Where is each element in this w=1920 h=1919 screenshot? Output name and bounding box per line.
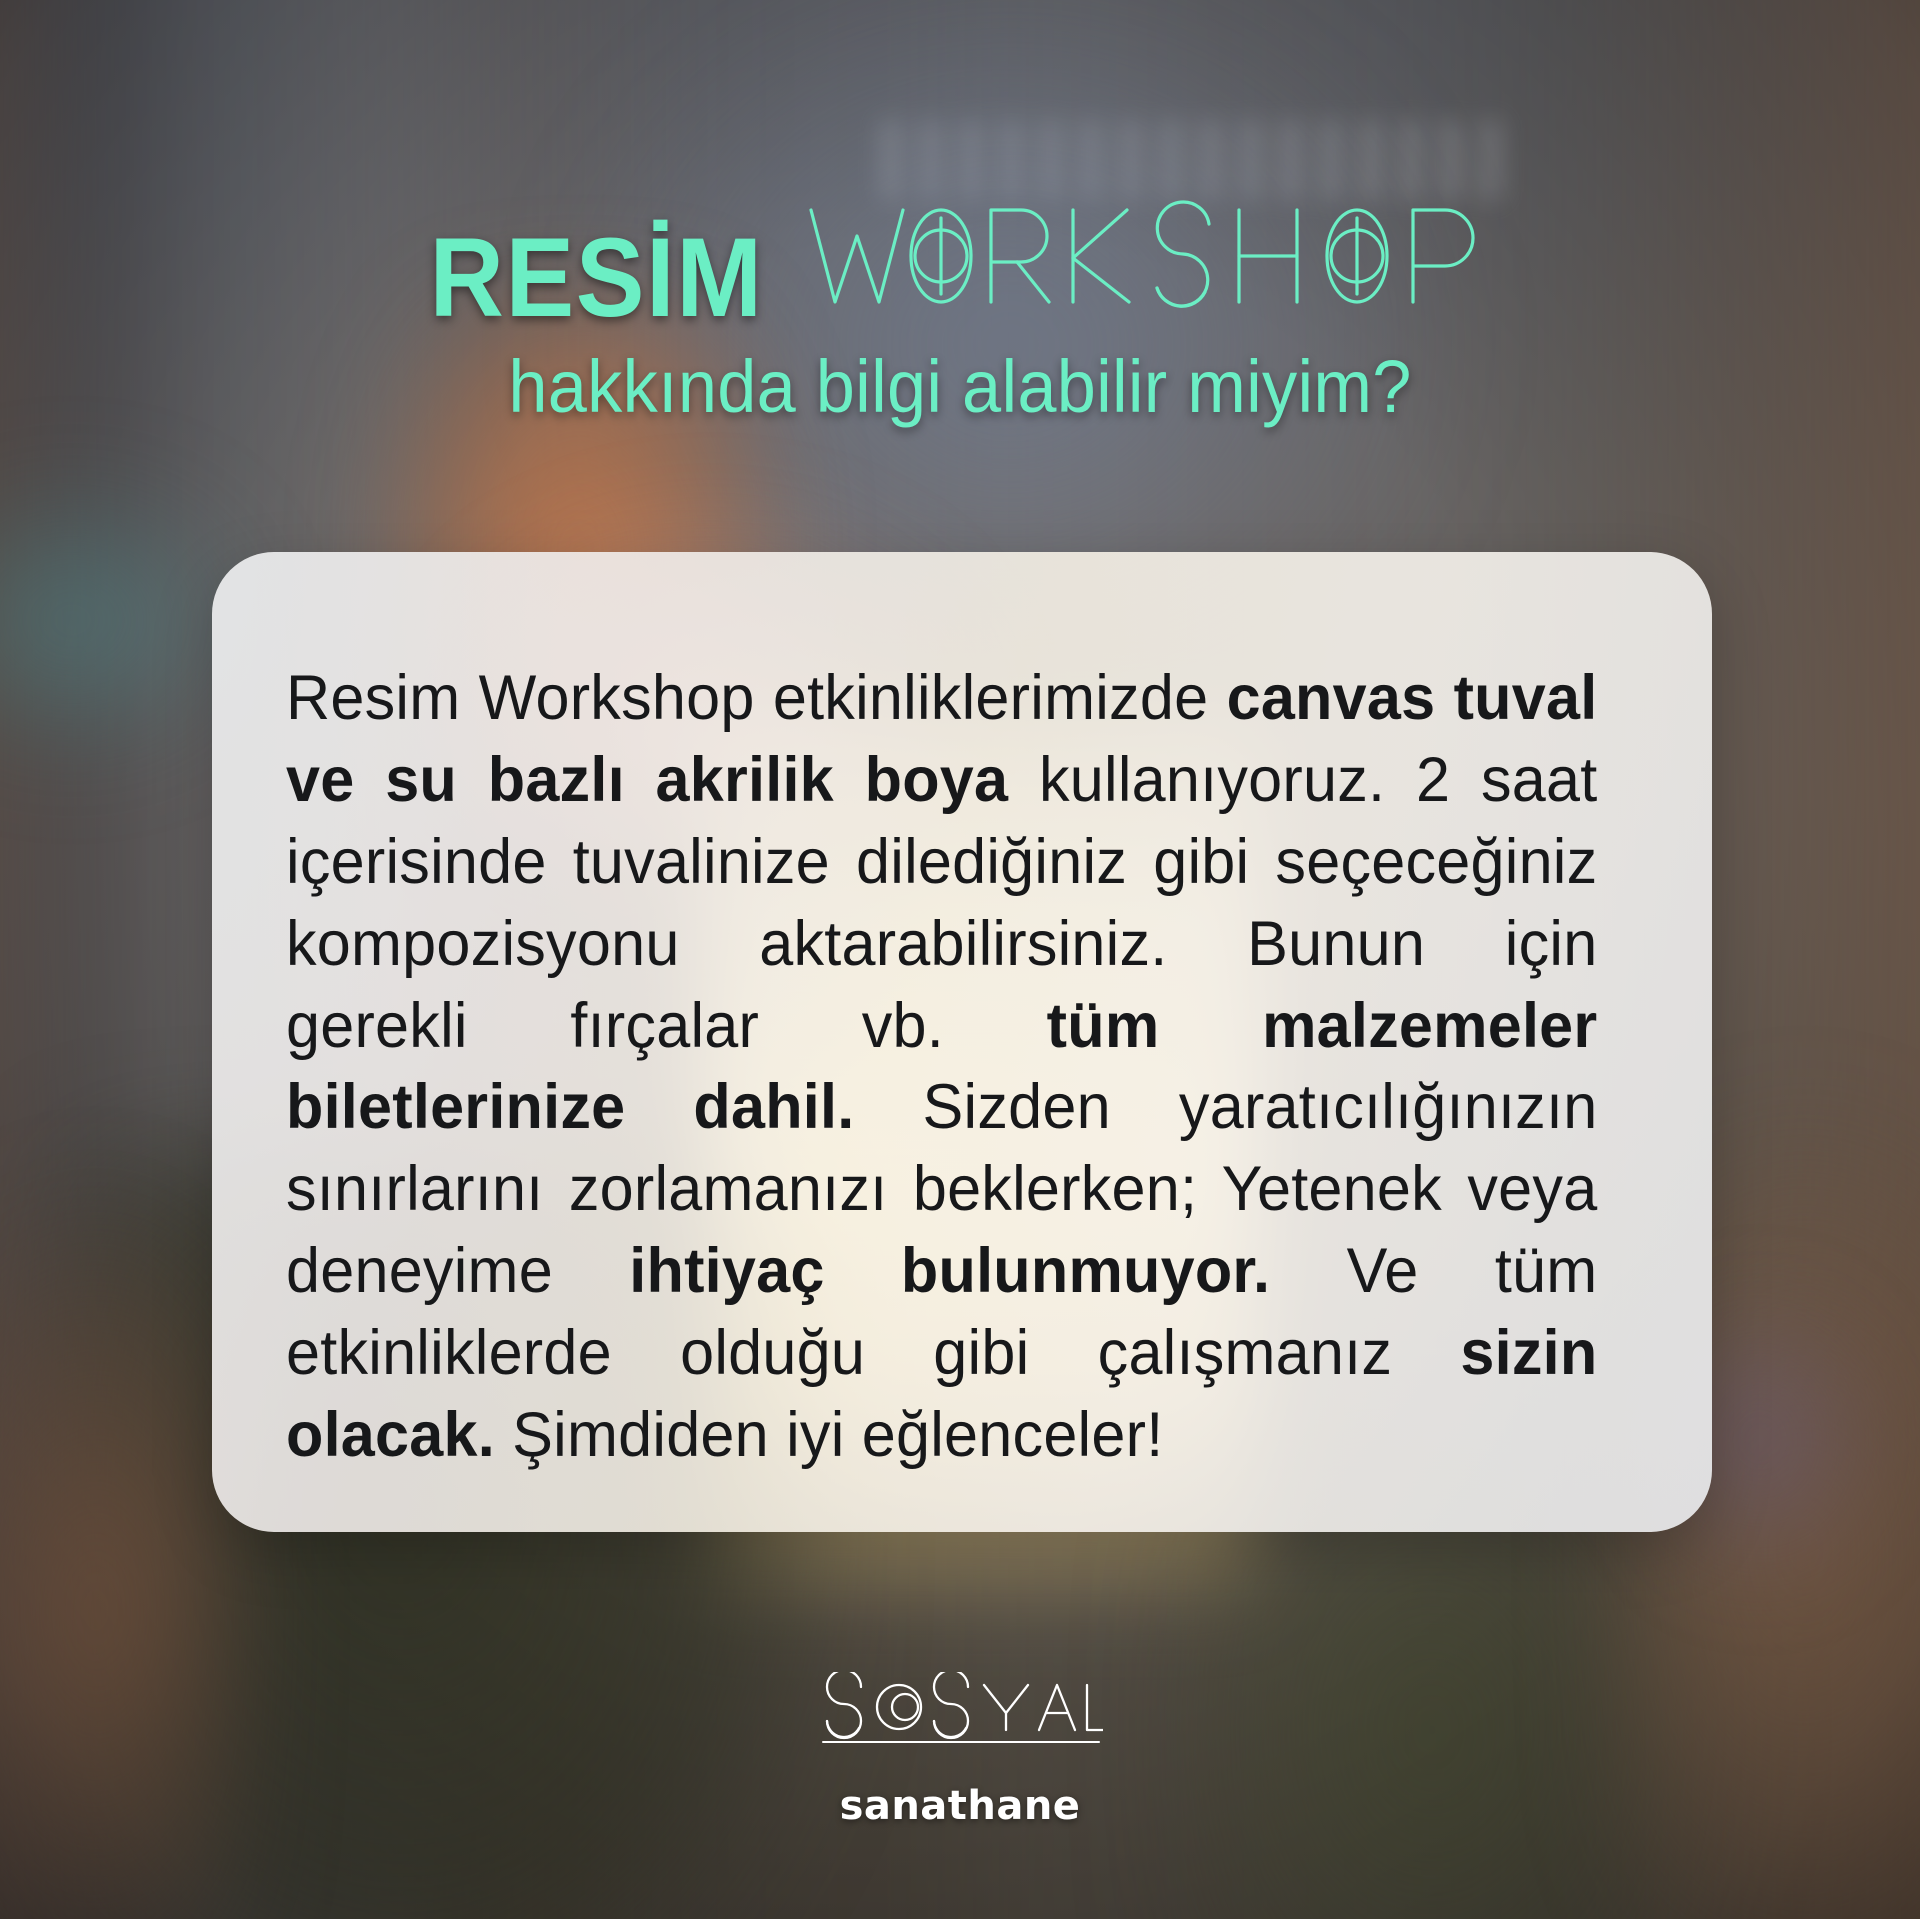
info-card-text: Resim Workshop etkinliklerimizde canvas … [286,658,1597,1477]
text-segment-bold: ihtiyaç bulunmuyor. [629,1236,1270,1306]
workshop-wordmark-svg [805,196,1505,316]
poster-heading: RESİM [0,196,1920,424]
title-row: RESİM [0,196,1920,334]
sosyal-wordmark-svg [817,1672,1103,1766]
logo-wordmark [817,1672,1103,1766]
poster-canvas: RESİM [0,0,1920,1919]
title-bold-word: RESİM [430,222,764,334]
brand-logo: sanathane [0,1672,1920,1829]
text-segment: Resim Workshop etkinliklerimizde [286,663,1227,733]
info-card: Resim Workshop etkinliklerimizde canvas … [212,552,1712,1532]
text-segment: Şimdiden iyi eğlenceler! [495,1400,1163,1470]
logo-tagline: sanathane [0,1783,1920,1829]
title-thin-word [805,196,1505,316]
heading-subtitle: hakkında bilgi alabilir miyim? [48,350,1872,424]
info-card-rich-text: Resim Workshop etkinliklerimizde canvas … [286,663,1597,1470]
